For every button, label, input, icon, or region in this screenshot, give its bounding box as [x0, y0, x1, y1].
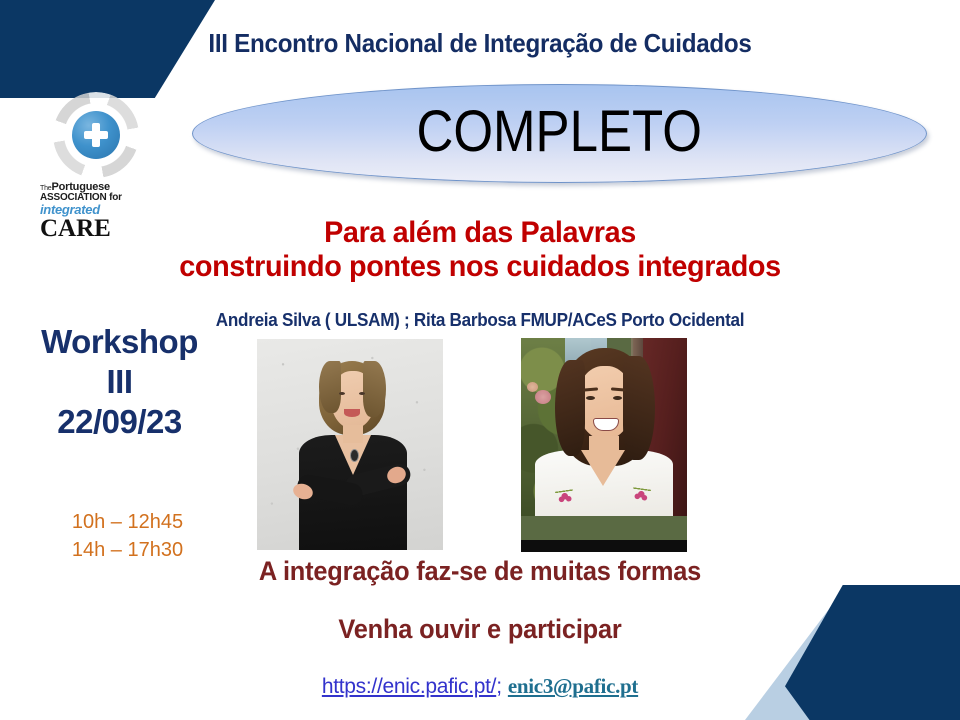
- contact-links: https://enic.pafic.pt/; enic3@pafic.pt: [0, 674, 960, 699]
- tagline-secondary: Venha ouvir e participar: [29, 614, 931, 645]
- schedule-morning: 10h – 12h45: [20, 508, 235, 536]
- photo-smile: [344, 409, 360, 417]
- photo-hair-left: [555, 360, 585, 456]
- status-badge: COMPLETO: [192, 84, 927, 183]
- conference-poster: ThePortuguese ASSOCIATION for integrated…: [0, 0, 960, 720]
- link-separator: ;: [496, 675, 508, 698]
- speaker-photo-andreia: [257, 339, 443, 550]
- bottom-right-navy-shape: [785, 585, 960, 720]
- photo-hair-right: [623, 356, 655, 460]
- photo-bottom-bar: [521, 540, 687, 552]
- photo-eye-right: [359, 392, 365, 395]
- photo-necklace: [350, 449, 359, 462]
- talk-title-line-1: Para além das Palavras: [19, 216, 941, 250]
- workshop-label: Workshop: [12, 322, 227, 362]
- photo-blossom-1: [535, 390, 551, 404]
- event-title: III Encontro Nacional de Integração de C…: [34, 28, 927, 59]
- photo-neck: [343, 425, 363, 443]
- website-link[interactable]: https://enic.pafic.pt/: [322, 675, 496, 698]
- speaker-photo-rita: [521, 338, 687, 552]
- photo-blossom-2: [527, 382, 538, 392]
- photo-embroidery-left: [554, 479, 575, 503]
- workshop-date: 22/09/23: [12, 402, 227, 442]
- pafic-logo-icon: [53, 92, 139, 178]
- photo-eye-right: [613, 396, 622, 400]
- email-link[interactable]: enic3@pafic.pt: [508, 674, 638, 698]
- photo-hair-left: [319, 361, 341, 413]
- logo-line-1-small: The: [40, 185, 51, 192]
- talk-title: Para além das Palavras construindo ponte…: [19, 216, 941, 284]
- photo-embroidery-right: [632, 477, 653, 501]
- photo-hair-right: [363, 361, 386, 417]
- workshop-info: Workshop III 22/09/23: [12, 322, 227, 442]
- workshop-number: III: [12, 362, 227, 402]
- tagline-primary: A integração faz-se de muitas formas: [29, 556, 931, 587]
- photo-eye-left: [339, 392, 345, 395]
- talk-title-line-2: construindo pontes nos cuidados integrad…: [19, 250, 941, 284]
- status-badge-label: COMPLETO: [417, 98, 703, 165]
- photo-eye-left: [586, 396, 595, 400]
- medical-cross-icon: [84, 123, 108, 147]
